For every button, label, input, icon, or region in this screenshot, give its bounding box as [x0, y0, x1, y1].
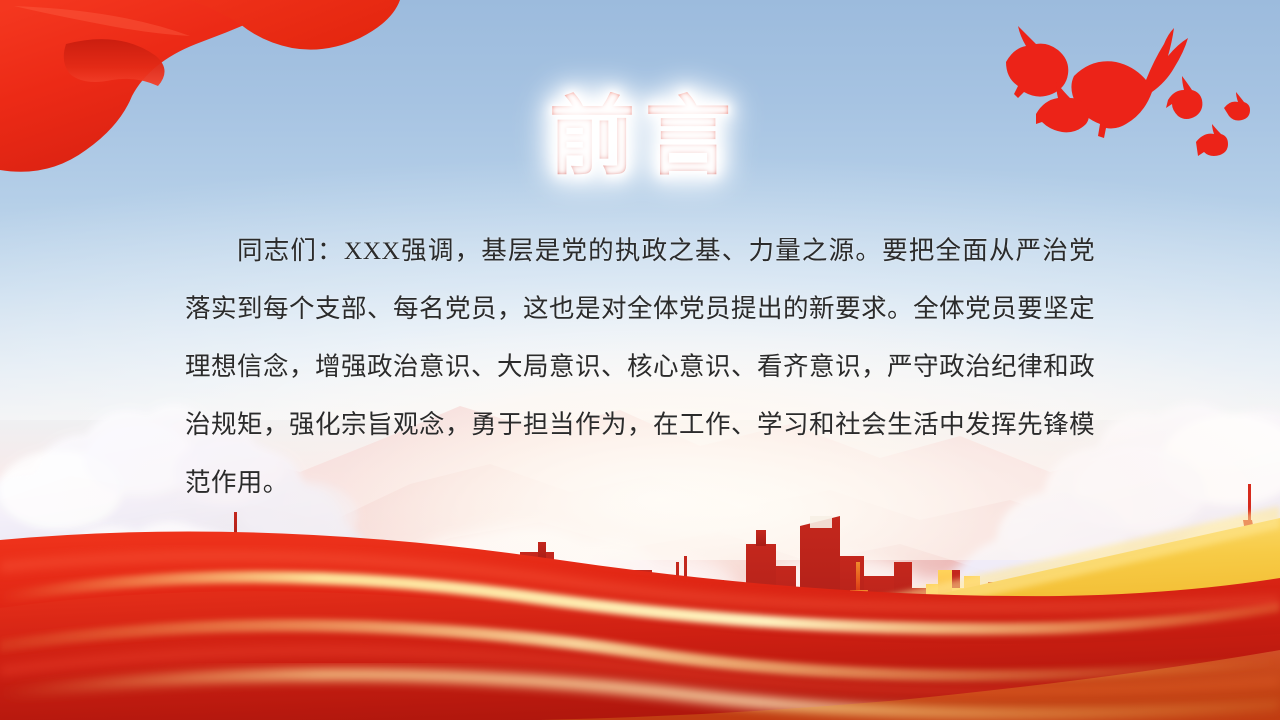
- red-gold-ribbon: [0, 500, 1280, 720]
- body-container: 同志们：XXX强调，基层是党的执政之基、力量之源。要把全面从严治党落实到每个支部…: [185, 222, 1095, 512]
- page-title: 前言: [533, 92, 747, 182]
- body-paragraph: 同志们：XXX强调，基层是党的执政之基、力量之源。要把全面从严治党落实到每个支部…: [185, 222, 1095, 512]
- slide-canvas: 前言 同志们：XXX强调，基层是党的执政之基、力量之源。要把全面从严治党落实到每…: [0, 0, 1280, 720]
- title-container: 前言: [0, 92, 1280, 182]
